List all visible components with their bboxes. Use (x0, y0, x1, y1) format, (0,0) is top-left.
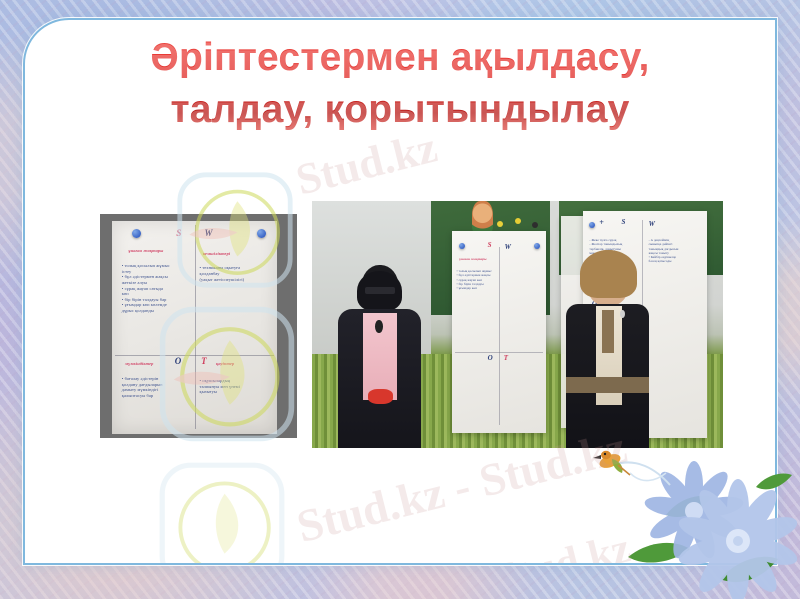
quadrant-w-lines: • техниканы оқытуға қолданбау (уақыт жет… (200, 265, 273, 282)
stud-kz-leaf-logo-icon-bottom (157, 460, 287, 565)
quadrant-t-lines: • оқушылардың талпынуы мен үнемі қызығуы (200, 378, 273, 395)
flipchart-vertical-divider (195, 225, 196, 429)
magnet-yellow-icon (497, 221, 503, 227)
quadrant-t-heading: қауіптер (216, 361, 234, 367)
flipchart-paper: S ұнаған жақтары • толық қосылып жұмыс і… (112, 221, 277, 434)
slide-title-line-2: талдау, қорытындылау (25, 84, 775, 136)
presenter-right-figure (559, 250, 658, 448)
blue-magnet-left-icon (132, 229, 141, 238)
chart-center-marker-w: W (505, 245, 511, 251)
slide-root: Әріптестермен ақылдасу, талдау, қорытынд… (0, 0, 800, 599)
quadrant-o-heading: мүмкіндіктер (125, 361, 153, 367)
chart-right-marker-s2: S (621, 220, 625, 226)
blue-magnet-right-icon (257, 229, 266, 238)
flipchart-horizontal-divider (115, 355, 274, 356)
chart-right-magnet-icon (589, 222, 595, 228)
slide-title: Әріптестермен ақылдасу, талдау, қорытынд… (25, 32, 775, 136)
chart-magnet-b-icon (534, 243, 540, 249)
chart-center-marker-t: T (504, 356, 508, 362)
quadrant-o-marker: O (175, 359, 182, 365)
photo-classroom-discussion[interactable]: S W O T ұнаған жақтары • толық қосылып ж… (312, 201, 723, 448)
slide-content-panel: Әріптестермен ақылдасу, талдау, қорытынд… (23, 18, 777, 565)
quadrant-s-marker: S (176, 231, 181, 237)
quadrant-w-marker: W (204, 231, 212, 237)
chart-center-text-red: ұнаған жақтары (459, 257, 486, 263)
chart-center-text-blue: • толық қосылып жұмыс • бұл әдістермен ж… (456, 269, 496, 290)
classroom-flipchart-center: S W O T ұнаған жақтары • толық қосылып ж… (452, 231, 547, 434)
chart-center-marker-o: O (488, 356, 493, 362)
chart-right-marker-w2: W (649, 222, 655, 228)
presenter-left-figure (333, 265, 428, 448)
slide-title-line-1: Әріптестермен ақылдасу, (25, 32, 775, 84)
chart-magnet-a-icon (459, 243, 465, 249)
watermark-bottom: Stud.kz (491, 524, 635, 565)
magnet-dark-icon (532, 222, 538, 228)
quadrant-s-heading: ұнаған жақтары (128, 248, 163, 254)
chart-divider-v (499, 247, 500, 425)
photo-flipchart-poster[interactable]: S ұнаған жақтары • толық қосылып жұмыс і… (100, 214, 297, 438)
classroom-photo-background: S W O T ұнаған жақтары • толық қосылып ж… (312, 201, 723, 448)
quadrant-s-lines: • толық қосылып жұмыс істеу • бұл әдісте… (122, 263, 191, 313)
quadrant-o-lines: • бағалау әдістерін қолдану дағдыларын д… (122, 376, 191, 398)
quadrant-w-heading: кемшіліктері (203, 251, 230, 257)
chart-right-marker-plus: + (599, 220, 604, 226)
chart-center-marker-s: S (488, 243, 492, 249)
quadrant-t-marker: T (201, 359, 207, 365)
chart-divider-h (455, 352, 544, 353)
flipchart-photo-background: S ұнаған жақтары • толық қосылып жұмыс і… (100, 214, 297, 438)
